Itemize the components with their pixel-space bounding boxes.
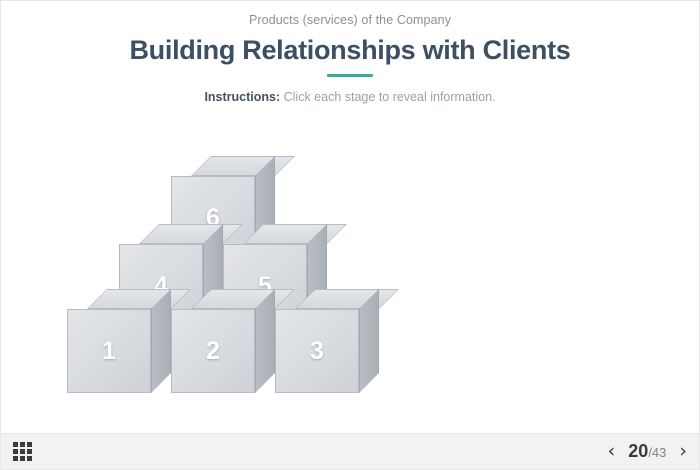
grid-menu-icon[interactable] [13, 442, 32, 461]
page-title: Building Relationships with Clients [1, 34, 699, 66]
cube-side-face [359, 289, 379, 393]
slide-canvas: Products (services) of the Company Build… [0, 0, 700, 470]
slide-navigation: ‹ 20/43 › [608, 442, 687, 461]
cube-label: 3 [310, 339, 324, 364]
cube-front-face: 3 [275, 309, 359, 393]
grid-cell [20, 442, 25, 447]
eyebrow-text: Products (services) of the Company [1, 12, 699, 28]
grid-cell [13, 456, 18, 461]
grid-cell [27, 456, 32, 461]
chevron-left-icon[interactable]: ‹ [608, 442, 616, 461]
grid-cell [20, 449, 25, 454]
cube-side-face [151, 289, 171, 393]
cube-top-face [295, 289, 399, 309]
cube-label: 1 [102, 339, 116, 364]
player-bottom-bar: ‹ 20/43 › [1, 433, 699, 469]
cube-stage-1[interactable]: 1 [67, 289, 171, 393]
cube-top-face [243, 224, 347, 244]
grid-cell [13, 442, 18, 447]
instructions-line: Instructions: Click each stage to reveal… [1, 89, 699, 105]
total-pages: /43 [648, 445, 666, 460]
current-page: 20 [628, 441, 648, 461]
cube-stage-3[interactable]: 3 [275, 289, 379, 393]
grid-cell [27, 449, 32, 454]
cube-pyramid-stage: 6 4 5 1 2 [1, 146, 700, 411]
instructions-label: Instructions: [204, 90, 280, 104]
grid-cell [20, 456, 25, 461]
grid-cell [13, 449, 18, 454]
cube-stage-2[interactable]: 2 [171, 289, 275, 393]
slide-header: Products (services) of the Company Build… [1, 1, 699, 105]
cube-front-face: 2 [171, 309, 255, 393]
cube-side-face [255, 289, 275, 393]
page-counter: 20/43 [628, 442, 666, 461]
cube-top-face [191, 156, 295, 176]
grid-cell [27, 442, 32, 447]
instructions-text: Click each stage to reveal information. [280, 90, 495, 104]
cube-label: 2 [206, 339, 220, 364]
chevron-right-icon[interactable]: › [679, 442, 687, 461]
cube-front-face: 1 [67, 309, 151, 393]
title-underline-accent [327, 74, 373, 77]
